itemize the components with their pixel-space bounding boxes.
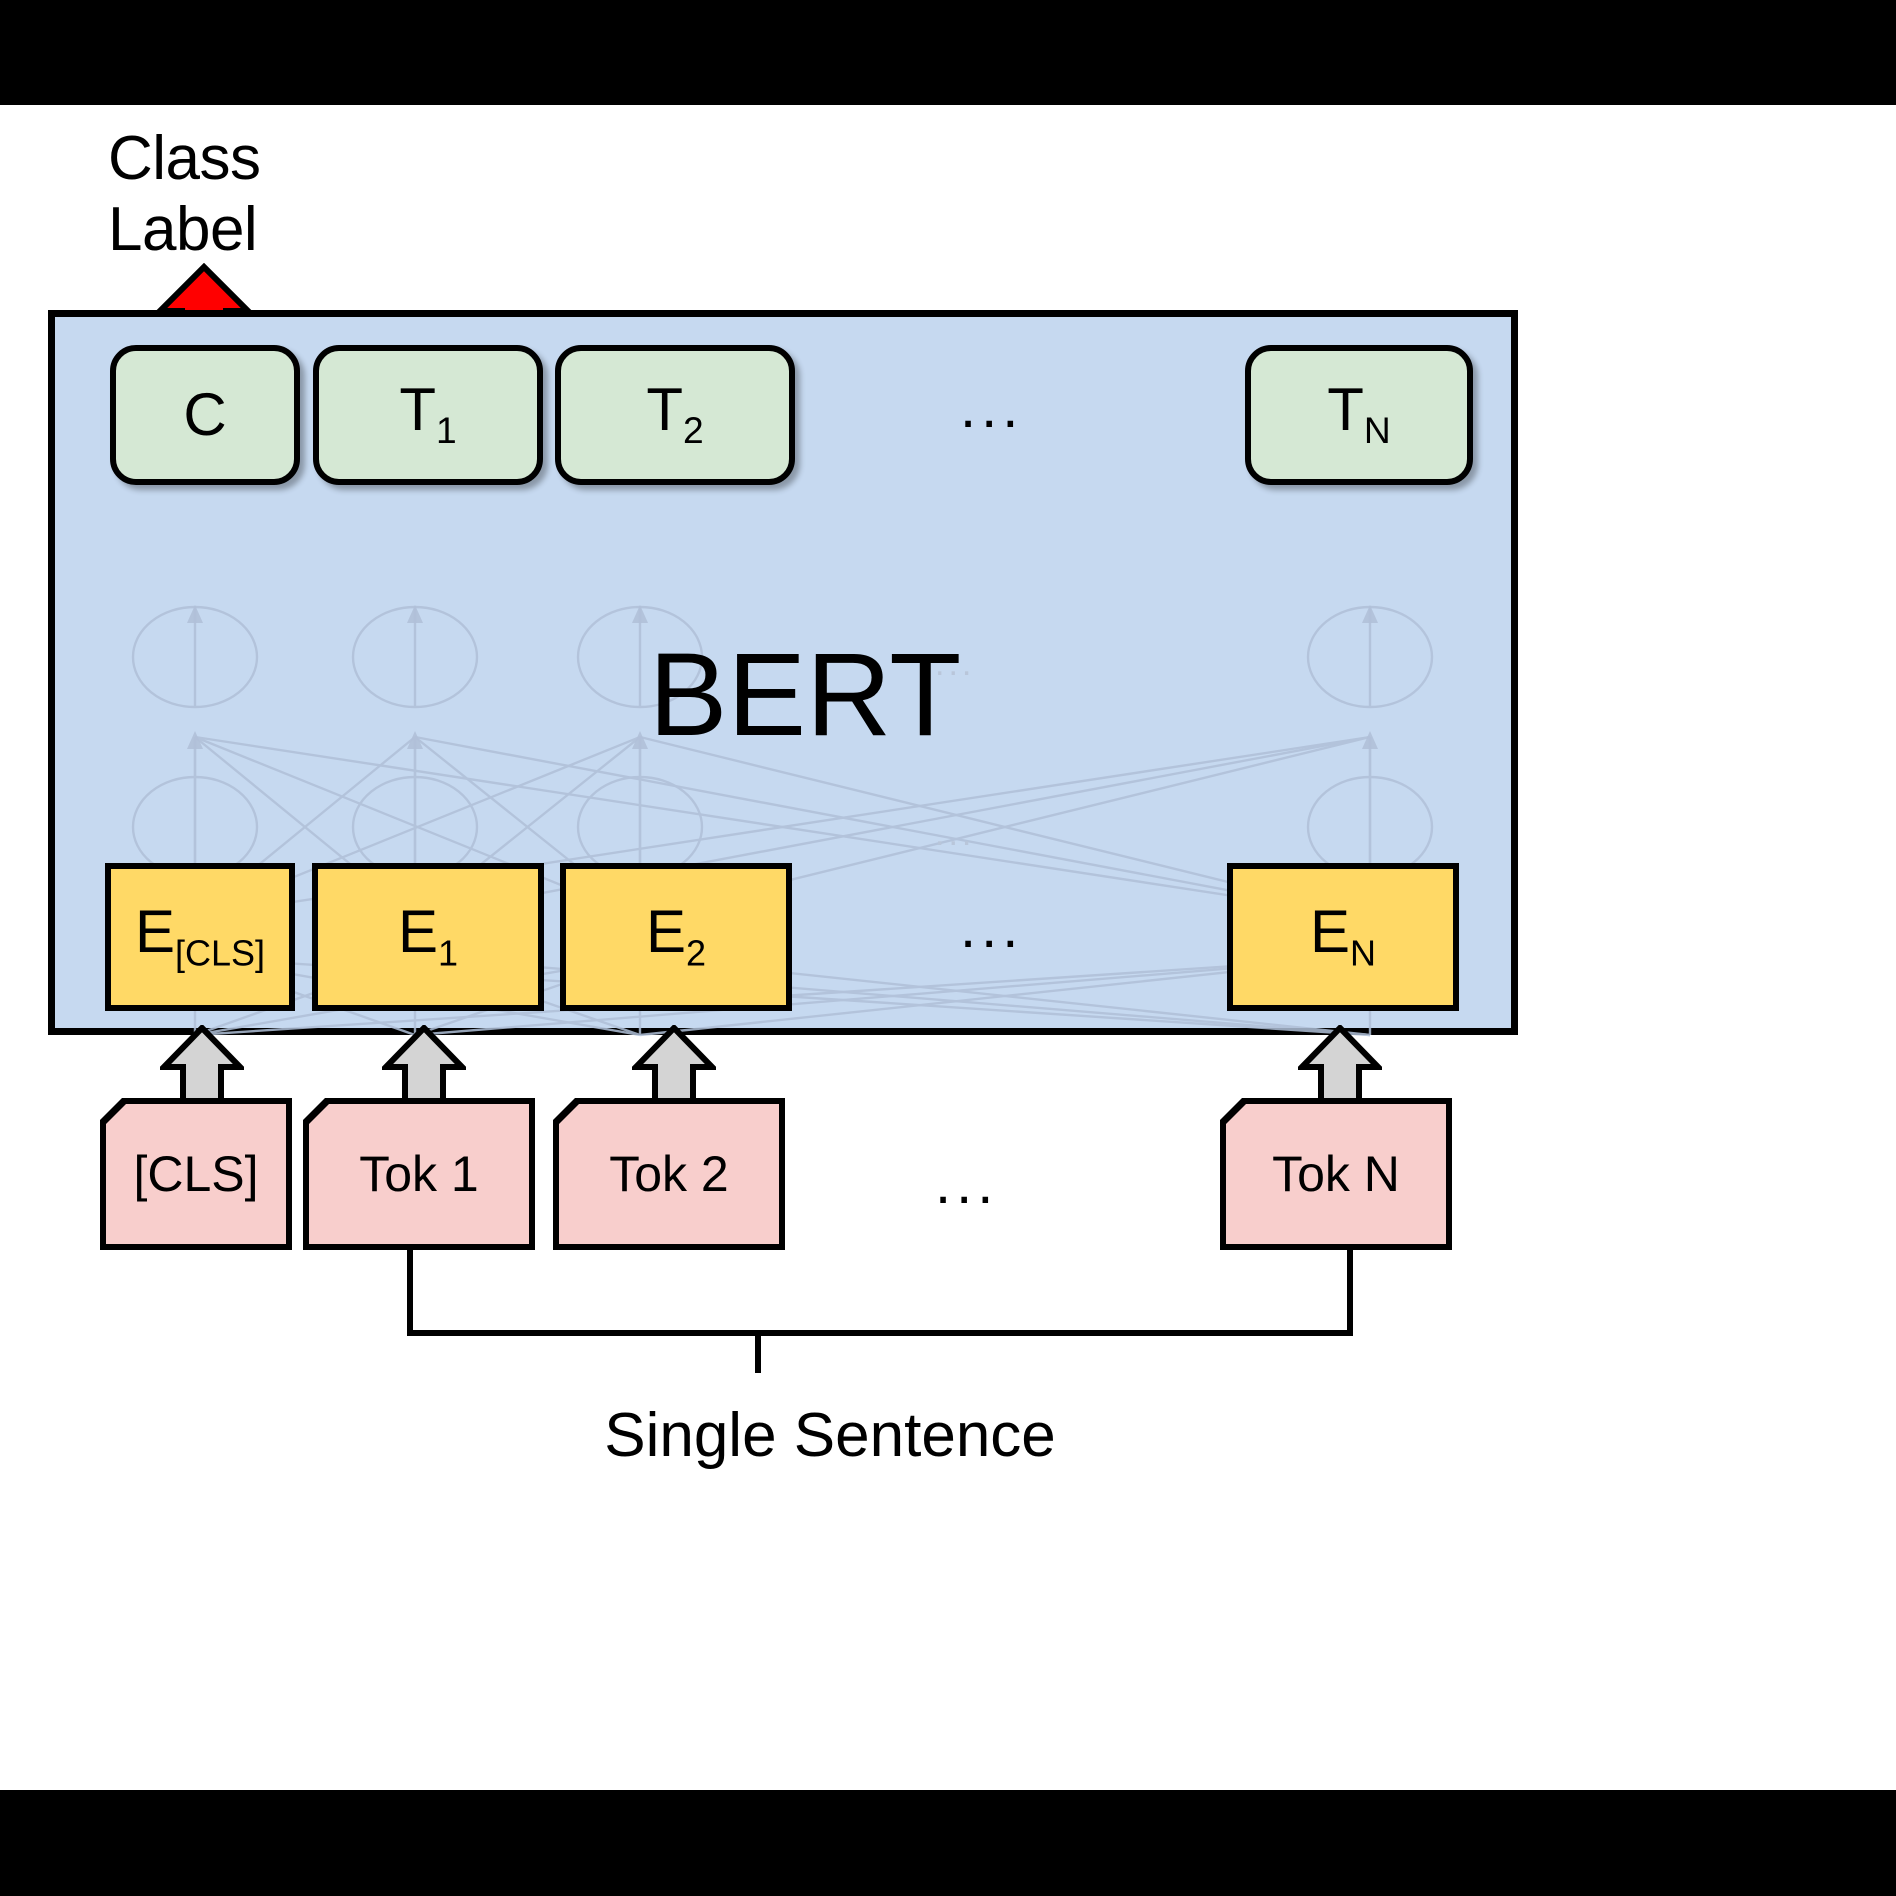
bert-lower-ellipsis: ... (935, 817, 975, 851)
output-token-tn[interactable]: TN (1245, 345, 1473, 485)
sentence-bracket (380, 1245, 1380, 1375)
embedding-en[interactable]: EN (1227, 863, 1459, 1011)
input-token-cls[interactable]: [CLS] (100, 1098, 292, 1250)
diagram-body: Class Label (0, 105, 1896, 1790)
input-token-tokn[interactable]: Tok N (1220, 1098, 1452, 1250)
letterbox-bottom (0, 1790, 1896, 1896)
input-token-tok2[interactable]: Tok 2 (553, 1098, 785, 1250)
embedding-en-label: EN (1310, 902, 1376, 972)
output-token-t2[interactable]: T2 (555, 345, 795, 485)
embedding-e2[interactable]: E2 (560, 863, 792, 1011)
output-row-ellipsis: ... (960, 379, 1023, 437)
embedding-e2-label: E2 (646, 902, 706, 972)
output-token-c-label: C (183, 385, 226, 445)
embedding-e-cls[interactable]: E[CLS] (105, 863, 295, 1011)
bert-upper-ellipsis: ... (935, 647, 975, 681)
sentence-caption-text: Single Sentence (604, 1400, 1056, 1471)
output-token-t1-label: T1 (399, 380, 456, 449)
input-row-ellipsis: ... (935, 1155, 998, 1213)
input-token-cls-label: [CLS] (133, 1149, 258, 1199)
output-token-tn-label: TN (1327, 380, 1391, 449)
output-token-t2-label: T2 (646, 380, 703, 449)
embedding-e1-label: E1 (398, 902, 458, 972)
input-token-tok1[interactable]: Tok 1 (303, 1098, 535, 1250)
input-token-tokn-label: Tok N (1272, 1149, 1400, 1199)
bert-encoder-block: BERT ... ... C T1 T2 TN ... E[CLS] (48, 310, 1518, 1035)
output-token-t1[interactable]: T1 (313, 345, 543, 485)
embedding-e-cls-label: E[CLS] (135, 902, 265, 972)
sentence-caption: Single Sentence (0, 1400, 1896, 1471)
input-token-tok1-label: Tok 1 (359, 1149, 479, 1199)
input-token-tok2-label: Tok 2 (609, 1149, 729, 1199)
letterbox-top (0, 0, 1896, 105)
embedding-row-ellipsis: ... (960, 899, 1023, 957)
output-token-c[interactable]: C (110, 345, 300, 485)
embedding-e1[interactable]: E1 (312, 863, 544, 1011)
diagram-canvas: Class Label (0, 0, 1896, 1896)
class-label-text: Class Label (108, 123, 368, 266)
